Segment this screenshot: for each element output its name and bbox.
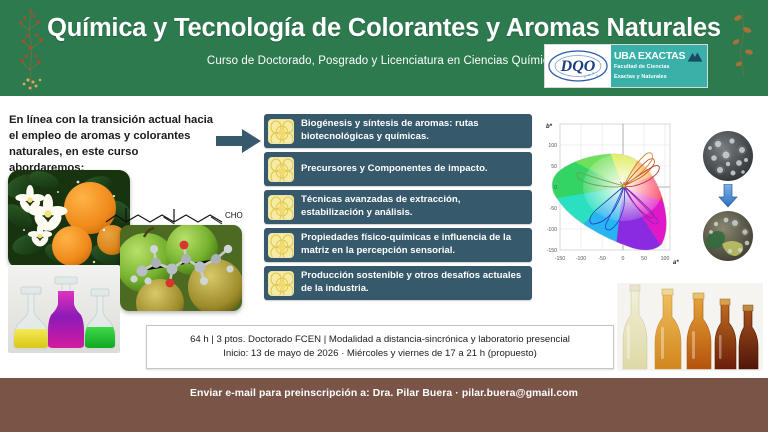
colored-flasks-photo bbox=[8, 265, 120, 353]
list-item[interactable]: Biogénesis y síntesis de aromas: rutas b… bbox=[264, 114, 532, 148]
chart-ytick: 0 bbox=[554, 185, 557, 191]
list-item[interactable]: Propiedades físico-químicas e influencia… bbox=[264, 228, 532, 262]
chart-xtick: -50 bbox=[598, 256, 606, 262]
page-title: Química y Tecnología de Colorantes y Aro… bbox=[0, 14, 768, 43]
chart-xtick: 100 bbox=[661, 256, 670, 262]
course-info-box: 64 h | 3 ptos. Doctorado FCEN | Modalida… bbox=[146, 325, 614, 369]
poster-root: Química y Tecnología de Colorantes y Aro… bbox=[0, 0, 768, 432]
green-apple-molecule-photo bbox=[120, 225, 242, 311]
chart-xtick: 50 bbox=[641, 256, 647, 262]
list-item[interactable]: Precursores y Componentes de impacto. bbox=[264, 152, 532, 186]
dqo-logo-icon: DQO bbox=[545, 45, 611, 87]
intro-paragraph: En línea con la transición actual hacia … bbox=[9, 112, 214, 176]
chart-ytick: 50 bbox=[551, 164, 557, 170]
list-item[interactable]: Técnicas avanzadas de extracción, estabi… bbox=[264, 190, 532, 224]
list-item-label: Precursores y Componentes de impacto. bbox=[301, 163, 488, 176]
list-item-label: Producción sostenible y otros desafíos a… bbox=[301, 270, 526, 296]
microcapsule-micrograph-after bbox=[702, 210, 754, 262]
list-item-label: Técnicas avanzadas de extracción, estabi… bbox=[301, 194, 526, 220]
course-info-line-1: 64 h | 3 ptos. Doctorado FCEN | Modalida… bbox=[190, 333, 570, 347]
chart-ytick: 100 bbox=[548, 143, 557, 149]
chart-y-axis-label: b* bbox=[546, 124, 553, 130]
right-arrow-icon bbox=[216, 128, 262, 154]
microcapsule-micrograph-before bbox=[702, 130, 754, 182]
footer-banner: Enviar e-mail para preinscripción a: Dra… bbox=[0, 378, 768, 432]
uba-exactas-logo: UBA EXACTAS Facultad de Ciencias Exactas… bbox=[611, 45, 707, 87]
chart-x-axis-label: a* bbox=[673, 260, 679, 266]
cielab-chromaticity-chart: b* a* 100 50 0 -50 -100 -150 -150 -100 -… bbox=[536, 112, 688, 276]
faculty-line-1: Facultad de Ciencias bbox=[614, 64, 703, 71]
list-item-label: Biogénesis y síntesis de aromas: rutas b… bbox=[301, 118, 526, 144]
citrus-slice-icon bbox=[268, 195, 294, 220]
exactas-text: EXACTAS bbox=[638, 51, 685, 62]
chart-ytick: -150 bbox=[547, 248, 557, 254]
chart-xtick: 0 bbox=[622, 256, 625, 262]
citrus-slice-icon bbox=[268, 271, 294, 296]
faculty-line-2: Exactas y Naturales bbox=[614, 74, 703, 81]
uba-text: UBA bbox=[614, 51, 636, 62]
dqo-logo-text: DQO bbox=[560, 58, 596, 75]
oil-bottles-photo bbox=[617, 283, 763, 371]
list-item[interactable]: Producción sostenible y otros desafíos a… bbox=[264, 266, 532, 300]
cho-group-label: CHO bbox=[225, 211, 243, 220]
course-info-line-2: Inicio: 13 de mayo de 2026 · Miércoles y… bbox=[223, 347, 537, 361]
chart-ytick: -50 bbox=[550, 206, 558, 212]
contact-email-text[interactable]: Enviar e-mail para preinscripción a: Dra… bbox=[190, 388, 578, 399]
institution-logo: DQO UBA EXACTAS Facultad de Ciencia bbox=[544, 44, 708, 88]
citrus-slice-icon bbox=[268, 233, 294, 258]
chart-ytick: -100 bbox=[547, 227, 557, 233]
chart-xtick: -150 bbox=[555, 256, 565, 262]
topic-list: Biogénesis y síntesis de aromas: rutas b… bbox=[264, 114, 532, 304]
citrus-slice-icon bbox=[268, 157, 294, 182]
down-arrow-icon bbox=[718, 184, 738, 208]
header-banner: Química y Tecnología de Colorantes y Aro… bbox=[0, 0, 768, 96]
chart-xtick: -100 bbox=[576, 256, 586, 262]
uba-mountain-icon bbox=[687, 51, 703, 62]
list-item-label: Propiedades físico-químicas e influencia… bbox=[301, 232, 526, 258]
citrus-slice-icon bbox=[268, 119, 294, 144]
